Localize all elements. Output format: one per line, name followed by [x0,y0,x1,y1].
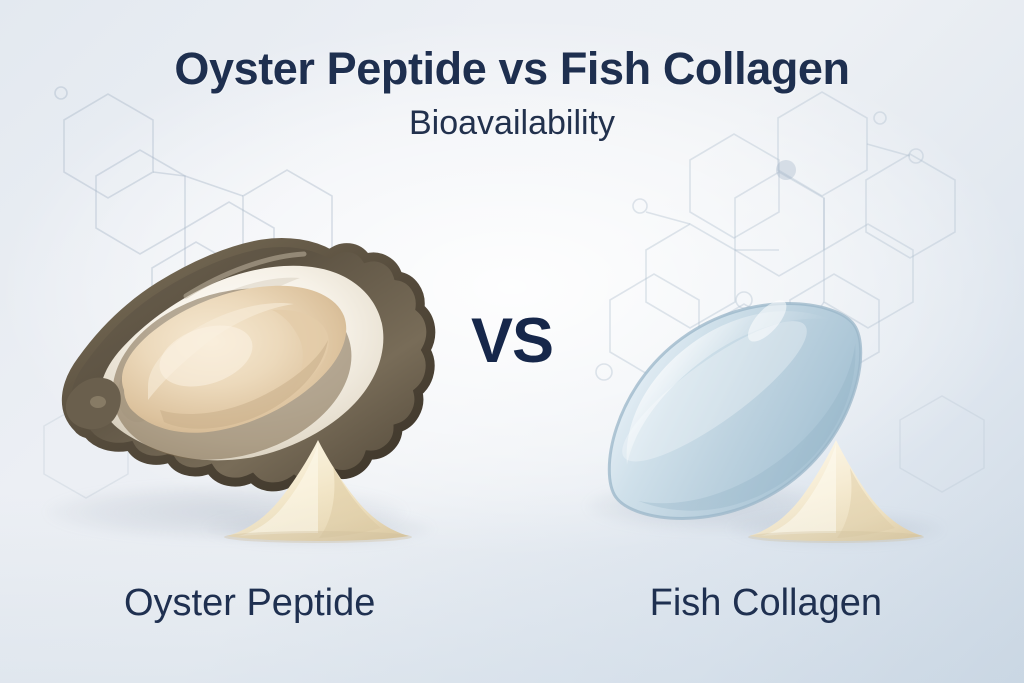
versus-label: VS [471,305,553,377]
page-subtitle: Bioavailability [0,103,1024,144]
comparison-graphic: Oyster Peptide vs Fish Collagen Bioavail… [0,0,1024,683]
heading-block: Oyster Peptide vs Fish Collagen Bioavail… [0,44,1024,144]
powder-pile-icon [733,438,939,542]
right-product-label: Fish Collagen [650,582,882,625]
left-product-label: Oyster Peptide [124,582,375,625]
page-title: Oyster Peptide vs Fish Collagen [0,44,1024,94]
powder-pile-icon [209,438,427,542]
